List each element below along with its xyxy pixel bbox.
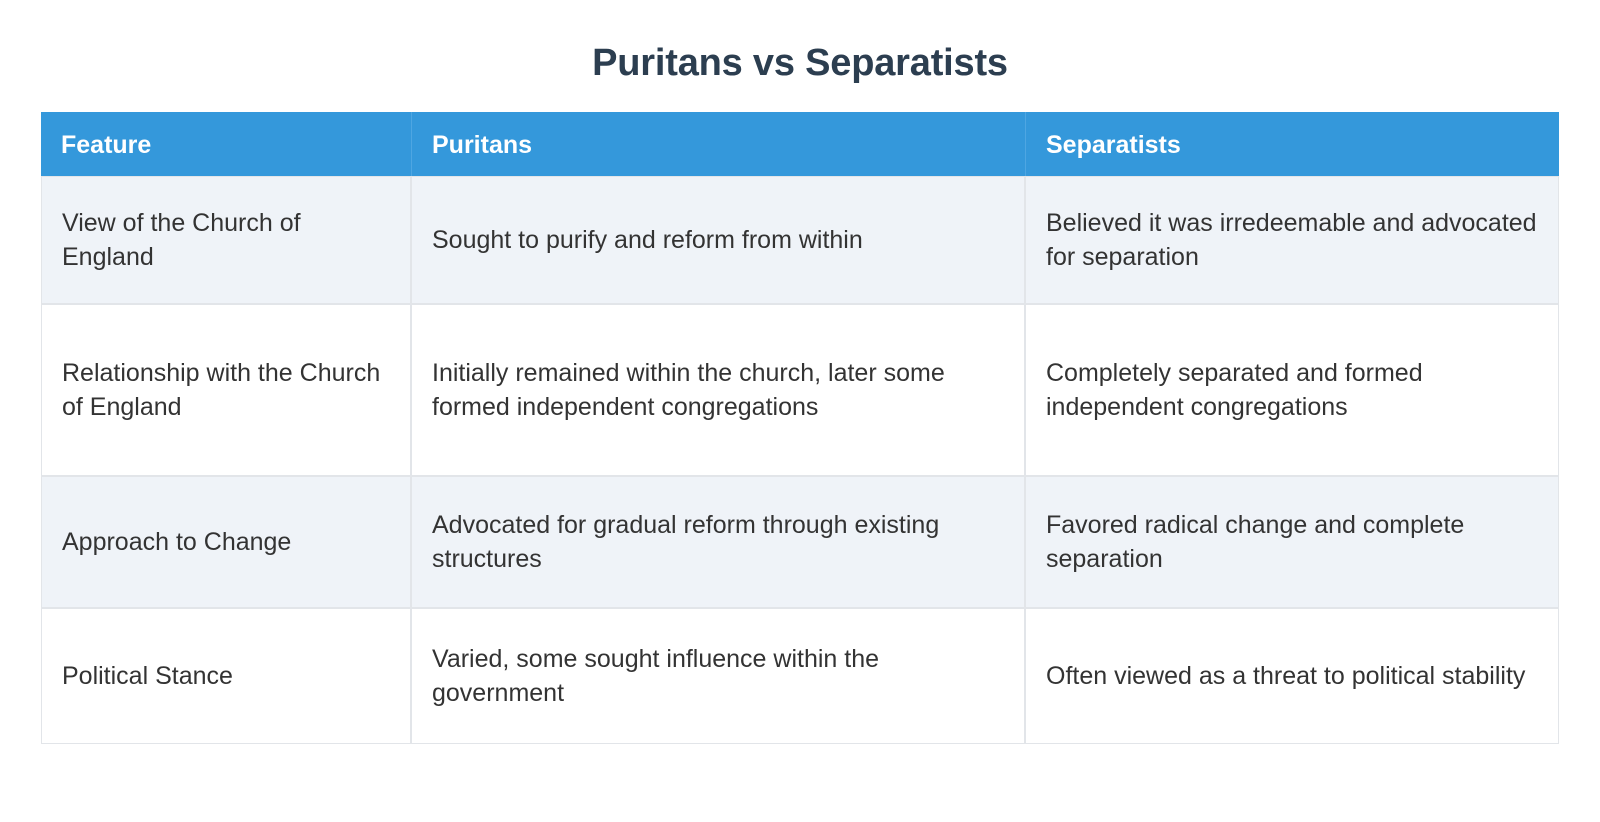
table-row: Relationship with the Church of England … (41, 304, 1559, 476)
page-root: Puritans vs Separatists Feature Puritans… (0, 0, 1600, 822)
comparison-table: Feature Puritans Separatists View of the… (41, 112, 1559, 744)
cell-feature: View of the Church of England (41, 176, 411, 304)
cell-puritans: Sought to purify and reform from within (411, 176, 1025, 304)
column-header-separatists[interactable]: Separatists (1025, 112, 1559, 176)
column-header-puritans[interactable]: Puritans (411, 112, 1025, 176)
cell-feature: Approach to Change (41, 476, 411, 608)
cell-feature: Relationship with the Church of England (41, 304, 411, 476)
cell-separatists: Often viewed as a threat to political st… (1025, 608, 1559, 744)
cell-puritans: Initially remained within the church, la… (411, 304, 1025, 476)
table-row: View of the Church of England Sought to … (41, 176, 1559, 304)
column-header-feature[interactable]: Feature (41, 112, 411, 176)
cell-separatists: Believed it was irredeemable and advocat… (1025, 176, 1559, 304)
cell-puritans: Advocated for gradual reform through exi… (411, 476, 1025, 608)
cell-separatists: Completely separated and formed independ… (1025, 304, 1559, 476)
table-row: Approach to Change Advocated for gradual… (41, 476, 1559, 608)
table-row: Political Stance Varied, some sought inf… (41, 608, 1559, 744)
cell-feature: Political Stance (41, 608, 411, 744)
comparison-table-container: Feature Puritans Separatists View of the… (41, 112, 1559, 744)
page-title: Puritans vs Separatists (0, 0, 1600, 86)
table-header: Feature Puritans Separatists (41, 112, 1559, 176)
table-header-row: Feature Puritans Separatists (41, 112, 1559, 176)
cell-separatists: Favored radical change and complete sepa… (1025, 476, 1559, 608)
cell-puritans: Varied, some sought influence within the… (411, 608, 1025, 744)
table-body: View of the Church of England Sought to … (41, 176, 1559, 744)
